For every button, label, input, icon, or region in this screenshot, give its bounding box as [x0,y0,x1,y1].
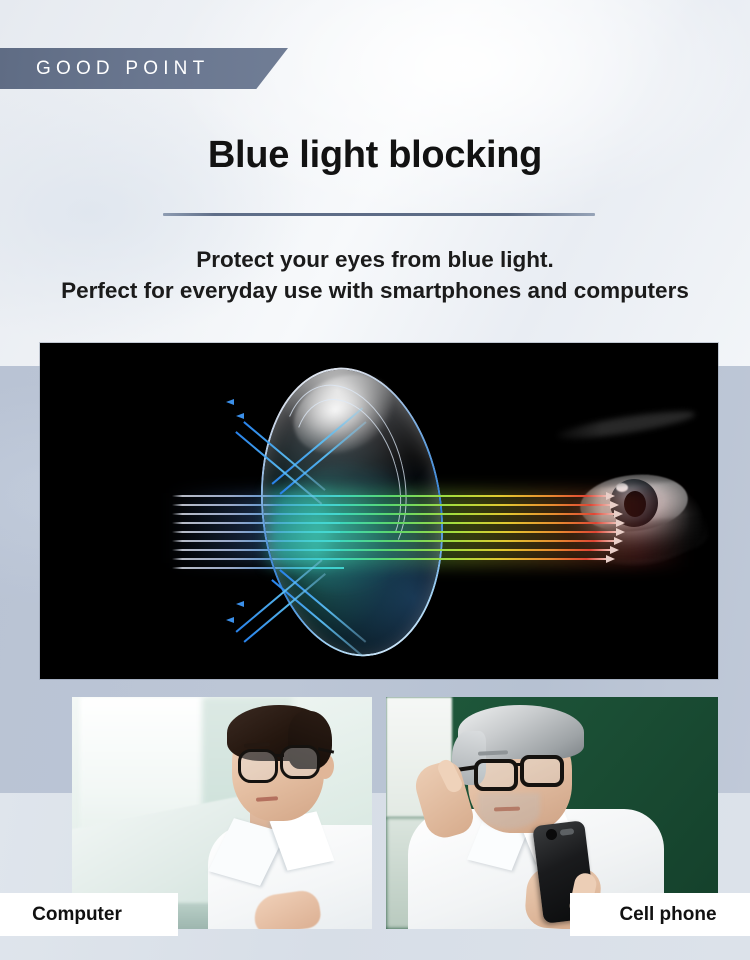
title-divider [163,213,595,216]
person-beard [478,793,540,829]
eyeglasses-bridge [516,763,524,766]
subtitle-line-1: Protect your eyes from blue light. [0,244,750,275]
caption-computer: Computer [0,893,178,936]
ray-arrowhead-icon [616,519,625,527]
ray-arrowhead-icon [614,510,623,518]
eyeglasses-lens-right [520,755,564,787]
page-title: Blue light blocking [0,134,750,177]
deflected-arrowhead-icon [226,617,234,623]
eyeglasses-lens-right [280,745,320,779]
infographic-page: GOOD POINT Blue light blocking Protect y… [0,0,750,960]
good-point-label: GOOD POINT [0,58,209,80]
outgoing-ray [340,549,612,551]
deflected-arrowhead-icon [236,413,244,419]
caption-computer-label: Computer [32,904,122,926]
good-point-banner: GOOD POINT [0,48,288,89]
eyeglasses-lens-left [238,749,278,783]
ray-arrowhead-icon [610,501,619,509]
subtitle-block: Protect your eyes from blue light. Perfe… [0,244,750,306]
outgoing-ray [340,531,618,533]
caption-cell-phone-label: Cell phone [619,904,716,926]
deflected-arrowhead-icon [226,399,234,405]
outgoing-ray [340,504,612,506]
hero-image-lens-spectrum [40,343,718,679]
eyeglasses-lens-left [474,759,518,791]
hero-illustration [40,343,718,679]
ray-arrowhead-icon [606,555,615,563]
ray-arrowhead-icon [616,528,625,536]
outgoing-ray [340,558,608,560]
outgoing-ray [340,540,616,542]
ray-arrowhead-icon [606,492,615,500]
ray-arrowhead-icon [614,537,623,545]
subtitle-line-2: Perfect for everyday use with smartphone… [0,275,750,306]
outgoing-ray [340,522,618,524]
outgoing-ray [340,513,616,515]
deflected-arrowhead-icon [236,601,244,607]
eyeglasses-bridge [275,754,284,757]
caption-cell-phone: Cell phone [570,893,750,936]
ray-arrowhead-icon [610,546,619,554]
outgoing-ray [340,495,608,497]
